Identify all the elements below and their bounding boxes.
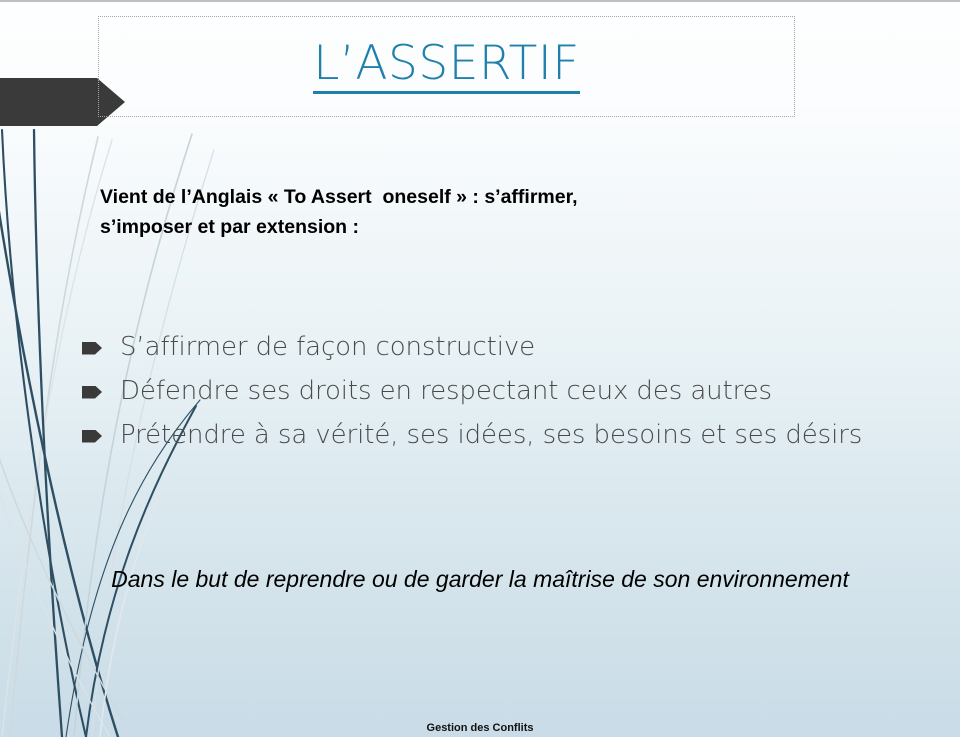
pennant-arrow-bullet-icon (82, 342, 102, 355)
list-item-label: Prétendre à sa vérité, ses idées, ses be… (120, 420, 862, 450)
closing-line-1: Dans le but de reprendre ou de garder la… (111, 566, 690, 592)
bullet-list: S’affirmer de façon constructive Défendr… (82, 325, 912, 457)
pennant-arrow-bullet-icon (82, 430, 102, 443)
top-divider-rule (0, 0, 960, 2)
closing-line-2: environnement (697, 566, 849, 592)
intro-paragraph: Vient de l’Anglais « To Assert oneself »… (100, 182, 800, 242)
list-item: S’affirmer de façon constructive (82, 325, 912, 369)
list-item-label: S’affirmer de façon constructive (120, 332, 535, 362)
list-item: Défendre ses droits en respectant ceux d… (82, 369, 912, 413)
title-box: L’ASSERTIF (98, 16, 795, 117)
intro-line-1: Vient de l’Anglais « To Assert oneself »… (100, 182, 800, 212)
pennant-arrow-bullet-icon (82, 386, 102, 399)
list-item: Prétendre à sa vérité, ses idées, ses be… (82, 413, 912, 457)
page-title: L’ASSERTIF (313, 39, 579, 94)
slide-canvas: L’ASSERTIF Vient de l’Anglais « To Asser… (0, 0, 960, 737)
intro-line-2: s’imposer et par extension : (100, 212, 800, 242)
closing-statement: Dans le but de reprendre ou de garder la… (110, 563, 850, 596)
list-item-label: Défendre ses droits en respectant ceux d… (120, 376, 772, 406)
slide-footer: Gestion des Conflits (0, 722, 960, 734)
